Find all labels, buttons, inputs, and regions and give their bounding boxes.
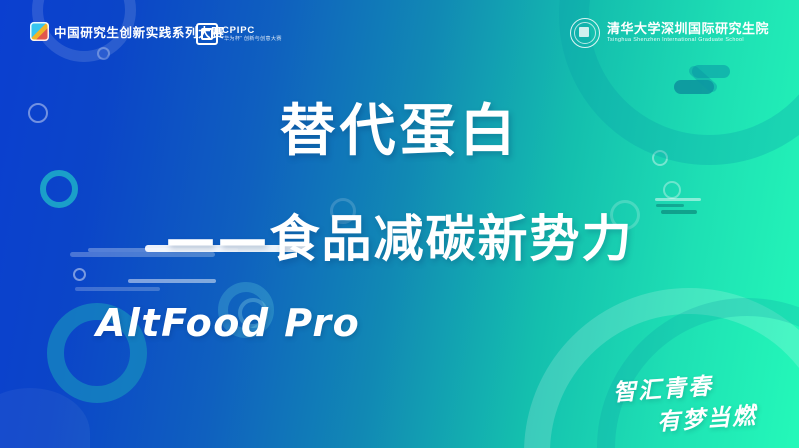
brand-name: AltFood Pro: [96, 301, 360, 345]
decor-ring-medium-left: [40, 170, 78, 208]
cpipc-emblem-icon: [196, 23, 218, 45]
decor-line-5: [128, 279, 216, 283]
university-logo: 清华大学深圳国际研究生院 Tsinghua Shenzhen Internati…: [570, 18, 769, 48]
logo-row: 中国研究生创新实践系列大赛 CPIPC "华为杯" 创新与创意大赛 清华大学深圳…: [0, 22, 799, 56]
tsinghua-seal-icon: [570, 18, 600, 48]
university-logo-label-en: Tsinghua Shenzhen International Graduate…: [607, 38, 769, 43]
presentation-title-slide: 中国研究生创新实践系列大赛 CPIPC "华为杯" 创新与创意大赛 清华大学深圳…: [0, 0, 799, 448]
decor-line-6: [656, 204, 684, 207]
decor-ring-small-lower-left: [73, 268, 86, 281]
slide-subtitle: ——食品减碳新势力: [0, 214, 799, 264]
decor-ring-right-medium: [663, 181, 681, 199]
university-logo-text: 清华大学深圳国际研究生院 Tsinghua Shenzhen Internati…: [607, 22, 769, 43]
decor-corner-bottom-left: [0, 388, 90, 448]
competition-emblem-icon: [30, 22, 49, 41]
decor-ribbon-icon: [672, 63, 732, 97]
decor-line-4: [75, 287, 160, 291]
slogan-line-2: 有梦当燃: [612, 402, 758, 439]
slogan: 智汇青春 有梦当燃: [613, 376, 757, 434]
university-logo-label-cn: 清华大学深圳国际研究生院: [607, 22, 769, 35]
decor-line-7: [655, 198, 701, 201]
cpipc-logo-text: CPIPC "华为杯" 创新与创意大赛: [222, 26, 282, 43]
slogan-line-1: 智汇青春: [612, 372, 714, 406]
cpipc-logo-sublabel: "华为杯" 创新与创意大赛: [222, 37, 282, 42]
slide-title: 替代蛋白: [0, 104, 799, 160]
cpipc-logo: CPIPC "华为杯" 创新与创意大赛: [196, 23, 282, 45]
cpipc-logo-label: CPIPC: [222, 26, 282, 36]
